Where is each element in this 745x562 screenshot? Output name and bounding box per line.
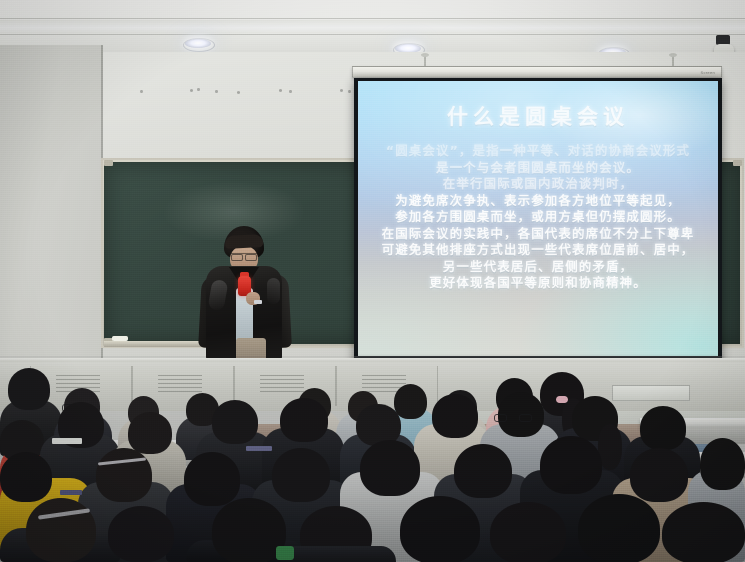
screen-housing: Screen <box>352 66 722 78</box>
slide-line: “圆桌会议”，是指一种平等、对话的协商会议形式 <box>358 143 718 160</box>
student-head <box>184 452 240 506</box>
slide-line: 在国际会议的实践中，各国代表的席位不分上下尊卑 <box>358 226 718 243</box>
wall-fixture <box>289 90 292 93</box>
wall-fixture <box>190 89 193 92</box>
downlight-icon <box>185 39 211 48</box>
projection-screen: 什么是圆桌会议 “圆桌会议”，是指一种平等、对话的协商会议形式 是一个与会者围圆… <box>358 81 718 358</box>
student-head <box>662 502 745 562</box>
slide-line: 参加各方围圆桌而坐，或用方桌但仍摆成圆形。 <box>358 209 718 226</box>
slide-line: 为避免席次争执、表示参加各方地位平等起见， <box>358 193 718 210</box>
slide-line: 在举行国际或国内政治谈判时， <box>358 176 718 193</box>
student-head <box>630 448 688 502</box>
wall-plaque <box>612 385 690 401</box>
vent-grille <box>260 375 304 395</box>
student-head <box>108 506 174 562</box>
wall-fixture <box>197 88 200 91</box>
student-head <box>8 368 50 410</box>
wall-fixture <box>140 90 143 93</box>
slide-body: “圆桌会议”，是指一种平等、对话的协商会议形式 是一个与会者围圆桌而坐的会议。 … <box>358 143 718 292</box>
student-head <box>640 406 686 450</box>
slide-line: 更好体现各国平等原则和协商精神。 <box>358 275 718 292</box>
student-head <box>280 398 328 442</box>
paper-sheet <box>52 438 82 444</box>
slide-line: 是一个与会者围圆桌而坐的会议。 <box>358 160 718 177</box>
cabinet-top-lip <box>0 358 745 362</box>
student-head <box>432 394 478 438</box>
hair-tie <box>556 396 568 403</box>
chalkboard-clip <box>104 160 113 166</box>
book <box>246 446 272 451</box>
student-head <box>490 502 566 562</box>
student-head <box>96 448 152 502</box>
wall-fixture <box>340 89 343 92</box>
presenter-student <box>196 226 292 362</box>
left-wall <box>0 45 103 375</box>
vent-grille <box>158 375 202 395</box>
slide-line: 可避免其他排座方式出现一些代表席位居前、居中， <box>358 242 718 259</box>
student-head <box>272 448 330 502</box>
chalkboard-clip <box>733 160 742 166</box>
chalk-stick <box>112 336 128 341</box>
student-head <box>700 438 745 490</box>
slide-title: 什么是圆桌会议 <box>358 101 718 131</box>
student-torso <box>280 546 396 562</box>
housing-brand-label: Screen <box>701 70 715 75</box>
student-head <box>212 498 286 562</box>
bottle <box>276 546 294 560</box>
ceiling-beam <box>0 20 745 33</box>
wristwatch-icon <box>254 300 262 304</box>
student-head <box>540 436 602 494</box>
wall-fixture <box>279 89 282 92</box>
student-head <box>360 440 420 496</box>
slide-line: 另一些代表居后、居侧的矛盾， <box>358 259 718 276</box>
presenter-fringe <box>225 234 264 249</box>
wall-fixture <box>215 90 218 93</box>
student-head <box>26 498 96 562</box>
glasses-icon <box>494 414 532 420</box>
book <box>60 490 82 495</box>
student-head <box>394 384 427 419</box>
student-head <box>212 400 258 444</box>
ceiling-seam <box>0 34 745 35</box>
lecture-hall-photo: Screen 什么是圆桌会议 “圆桌会议”，是指一种平等、对话的协商会议形式 是… <box>0 0 745 562</box>
student-head <box>578 494 660 562</box>
student-head <box>0 452 52 502</box>
wall-fixture <box>237 91 240 94</box>
jacket-highlight <box>267 278 280 304</box>
ceiling-seam <box>0 18 745 19</box>
wall-fixture <box>348 90 351 93</box>
student-head <box>400 496 480 562</box>
glasses-icon <box>231 253 257 259</box>
student-head <box>128 412 172 454</box>
student-head <box>454 444 512 498</box>
